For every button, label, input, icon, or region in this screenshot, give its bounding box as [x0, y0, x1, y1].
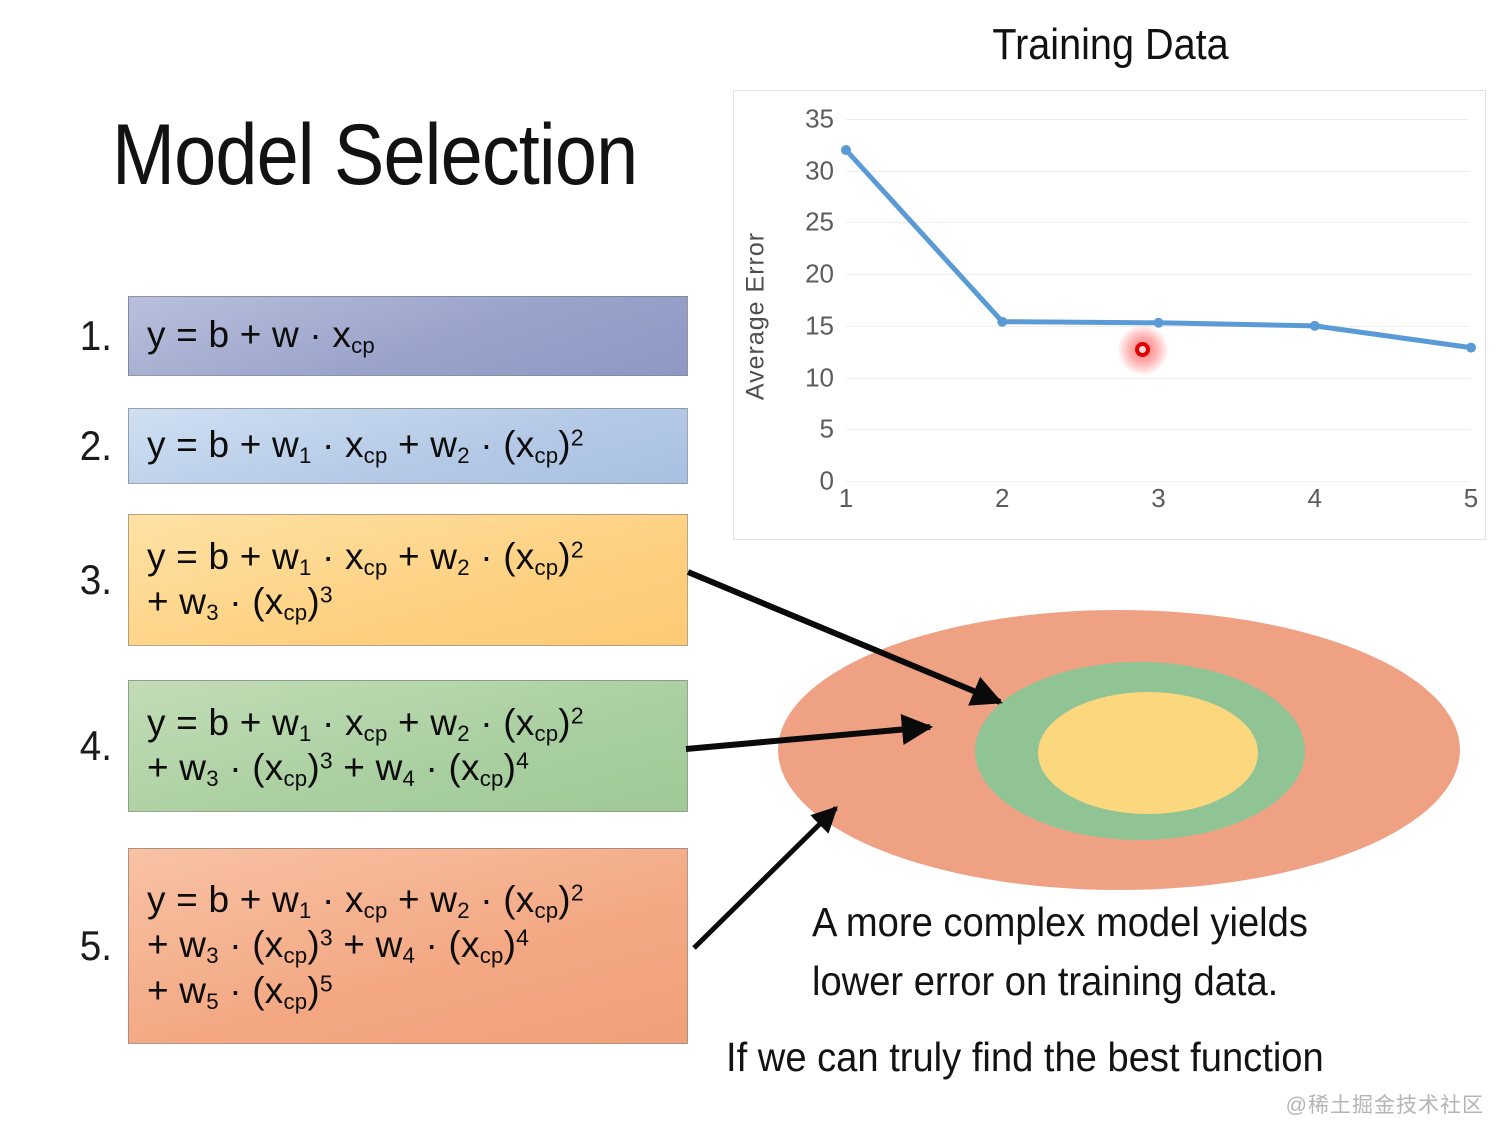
model-box-1[interactable]: y = b + w · xcp — [128, 296, 688, 376]
model-row-5: 5. y = b + w1 · xcp + w2 · (xcp)2 + w3 ·… — [50, 848, 688, 1044]
nested-function-sets-diagram — [760, 600, 1472, 900]
caption-line-2: lower error on training data. — [812, 952, 1454, 1011]
model-formula-5-line-3: + w5 · (xcp)5 — [147, 968, 673, 1013]
caption-line-1: A more complex model yields — [812, 893, 1454, 952]
caption-line-3: If we can truly find the best function — [726, 1028, 1324, 1087]
model-box-3[interactable]: y = b + w1 · xcp + w2 · (xcp)2 + w3 · (x… — [128, 514, 688, 646]
chart-plot-frame: Average Error 05101520253035 12345 — [733, 90, 1486, 540]
model-box-4[interactable]: y = b + w1 · xcp + w2 · (xcp)2 + w3 · (x… — [128, 680, 688, 812]
model-formula-4-line-1: y = b + w1 · xcp + w2 · (xcp)2 — [147, 700, 673, 745]
model-box-5[interactable]: y = b + w1 · xcp + w2 · (xcp)2 + w3 · (x… — [128, 848, 688, 1044]
model-row-2: 2. y = b + w1 · xcp + w2 · (xcp)2 — [50, 408, 688, 484]
model-formula-4-line-2: + w3 · (xcp)3 + w4 · (xcp)4 — [147, 745, 673, 790]
chart-data-point-2 — [997, 317, 1007, 327]
chart-series-line — [734, 91, 1487, 541]
model-formula-5-line-1: y = b + w1 · xcp + w2 · (xcp)2 — [147, 877, 673, 922]
chart-data-point-5 — [1466, 343, 1476, 353]
chart-data-point-3 — [1154, 318, 1164, 328]
model-row-1: 1. y = b + w · xcp — [50, 296, 688, 376]
model-formula-3-line-2: + w3 · (xcp)3 — [147, 579, 673, 624]
training-data-chart: Training Data Average Error 051015202530… — [733, 20, 1488, 545]
chart-data-point-4 — [1310, 321, 1320, 331]
model-row-3: 3. y = b + w1 · xcp + w2 · (xcp)2 + w3 ·… — [50, 514, 688, 646]
watermark: @稀土掘金技术社区 — [1286, 1089, 1484, 1119]
model-index-1: 1. — [53, 312, 125, 360]
model-formula-5-line-2: + w3 · (xcp)3 + w4 · (xcp)4 — [147, 922, 673, 967]
chart-data-point-1 — [841, 145, 851, 155]
model-index-2: 2. — [53, 422, 125, 470]
model-index-5: 5. — [53, 922, 125, 970]
model-row-4: 4. y = b + w1 · xcp + w2 · (xcp)2 + w3 ·… — [50, 680, 688, 812]
caption-block: A more complex model yields lower error … — [812, 893, 1502, 1012]
chart-title: Training Data — [771, 20, 1451, 70]
model-index-3: 3. — [53, 556, 125, 604]
model-list: 1. y = b + w · xcp 2. y = b + w1 · xcp +… — [0, 0, 720, 1133]
model-formula-1-line-1: y = b + w · xcp — [147, 312, 673, 357]
ellipse-inner-set-model-3 — [1038, 692, 1258, 814]
slide-canvas: Model Selection 1. y = b + w · xcp 2. y … — [0, 0, 1512, 1133]
model-box-2[interactable]: y = b + w1 · xcp + w2 · (xcp)2 — [128, 408, 688, 484]
model-index-4: 4. — [53, 722, 125, 770]
model-formula-3-line-1: y = b + w1 · xcp + w2 · (xcp)2 — [147, 534, 673, 579]
model-formula-2-line-1: y = b + w1 · xcp + w2 · (xcp)2 — [147, 422, 673, 467]
